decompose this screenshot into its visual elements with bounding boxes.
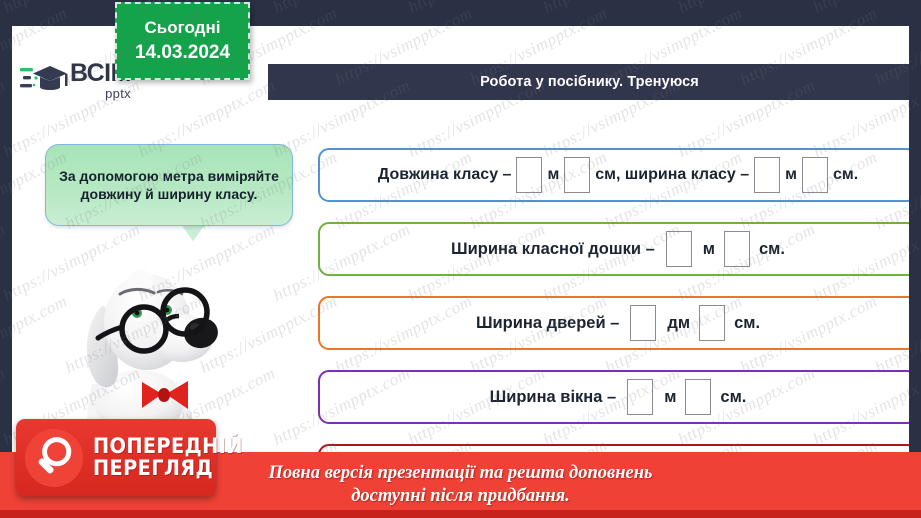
- preview-badge[interactable]: ПОПЕРЕДНІЙ ПЕРЕГЛЯД: [16, 419, 216, 496]
- task-row-4-seg-0: Ширина вікна –: [488, 388, 619, 407]
- preview-line-1: ПОПЕРЕДНІЙ: [93, 436, 243, 457]
- task-list: Довжина класу – м см, ширина класу – м с…: [318, 148, 909, 466]
- table-row[interactable]: Ширина дверей – дм см.: [318, 296, 909, 350]
- instruction-text: За допомогою метра виміряйте довжину й ш…: [46, 167, 292, 204]
- answer-blank[interactable]: [564, 157, 590, 193]
- task-row-1-seg-1: м: [545, 166, 561, 184]
- task-row-2-content: Ширина класної дошки – м см.: [449, 231, 787, 267]
- logo-sub-text: pptx: [70, 87, 131, 100]
- answer-blank[interactable]: [685, 379, 711, 415]
- slide-title-bar: Робота у посібнику. Тренуюся: [268, 64, 909, 100]
- today-label: Сьогодні: [145, 18, 221, 38]
- answer-blank[interactable]: [666, 231, 692, 267]
- task-row-1-seg-4: см.: [831, 166, 860, 184]
- table-row[interactable]: Довжина класу – м см, ширина класу – м с…: [318, 148, 909, 202]
- graduation-cap-icon: [20, 60, 68, 100]
- instruction-speech-bubble: За допомогою метра виміряйте довжину й ш…: [45, 144, 293, 226]
- task-row-4-seg-1: м: [662, 388, 678, 407]
- answer-blank[interactable]: [802, 157, 828, 193]
- task-row-3-seg-2: см.: [732, 314, 762, 333]
- task-row-1-seg-3: м: [783, 166, 799, 184]
- watermark-text: https://vsimpptx.com: [0, 363, 9, 449]
- watermark-text: https://vsimpptx.com: [0, 75, 9, 161]
- answer-blank[interactable]: [630, 305, 656, 341]
- table-row[interactable]: Ширина вікна – м см.: [318, 370, 909, 424]
- answer-blank[interactable]: [724, 231, 750, 267]
- watermark-text: https://vsimpptx.com: [0, 219, 9, 305]
- task-row-3-seg-0: Ширина дверей –: [474, 314, 621, 333]
- table-row[interactable]: Ширина класної дошки – м см.: [318, 222, 909, 276]
- task-row-1-content: Довжина класу – м см, ширина класу – м с…: [376, 157, 860, 193]
- answer-blank[interactable]: [516, 157, 542, 193]
- task-row-1-seg-0: Довжина класу –: [376, 166, 514, 184]
- task-row-1-seg-2: см, ширина класу –: [593, 166, 751, 184]
- today-date-badge: Сьогодні 14.03.2024: [115, 2, 250, 80]
- answer-blank[interactable]: [627, 379, 653, 415]
- task-row-4-content: Ширина вікна – м см.: [488, 379, 749, 415]
- task-row-3-seg-1: дм: [665, 314, 692, 333]
- task-row-2-seg-1: м: [701, 240, 717, 259]
- banner-line-1: Повна версія презентації та решта доповн…: [269, 462, 653, 485]
- answer-blank[interactable]: [699, 305, 725, 341]
- task-row-2-seg-2: см.: [757, 240, 787, 259]
- magnifier-icon: [25, 429, 83, 487]
- task-row-3-content: Ширина дверей – дм см.: [474, 305, 762, 341]
- slide-canvas: ВСІМ pptx За допомогою метра виміряйте д…: [12, 26, 909, 466]
- watermark-text: https://vsimpptx.com: [0, 0, 9, 18]
- today-date-value: 14.03.2024: [135, 42, 230, 64]
- presentation-window: ВСІМ pptx За допомогою метра виміряйте д…: [0, 0, 921, 518]
- answer-blank[interactable]: [754, 157, 780, 193]
- task-row-4-seg-2: см.: [718, 388, 748, 407]
- preview-text-block: ПОПЕРЕДНІЙ ПЕРЕГЛЯД: [93, 436, 256, 479]
- page-title: Робота у посібнику. Тренуюся: [480, 74, 699, 90]
- task-row-2-seg-0: Ширина класної дошки –: [449, 240, 657, 259]
- banner-line-2: доступні після придбання.: [351, 485, 570, 508]
- preview-line-2: ПЕРЕГЛЯД: [93, 458, 243, 479]
